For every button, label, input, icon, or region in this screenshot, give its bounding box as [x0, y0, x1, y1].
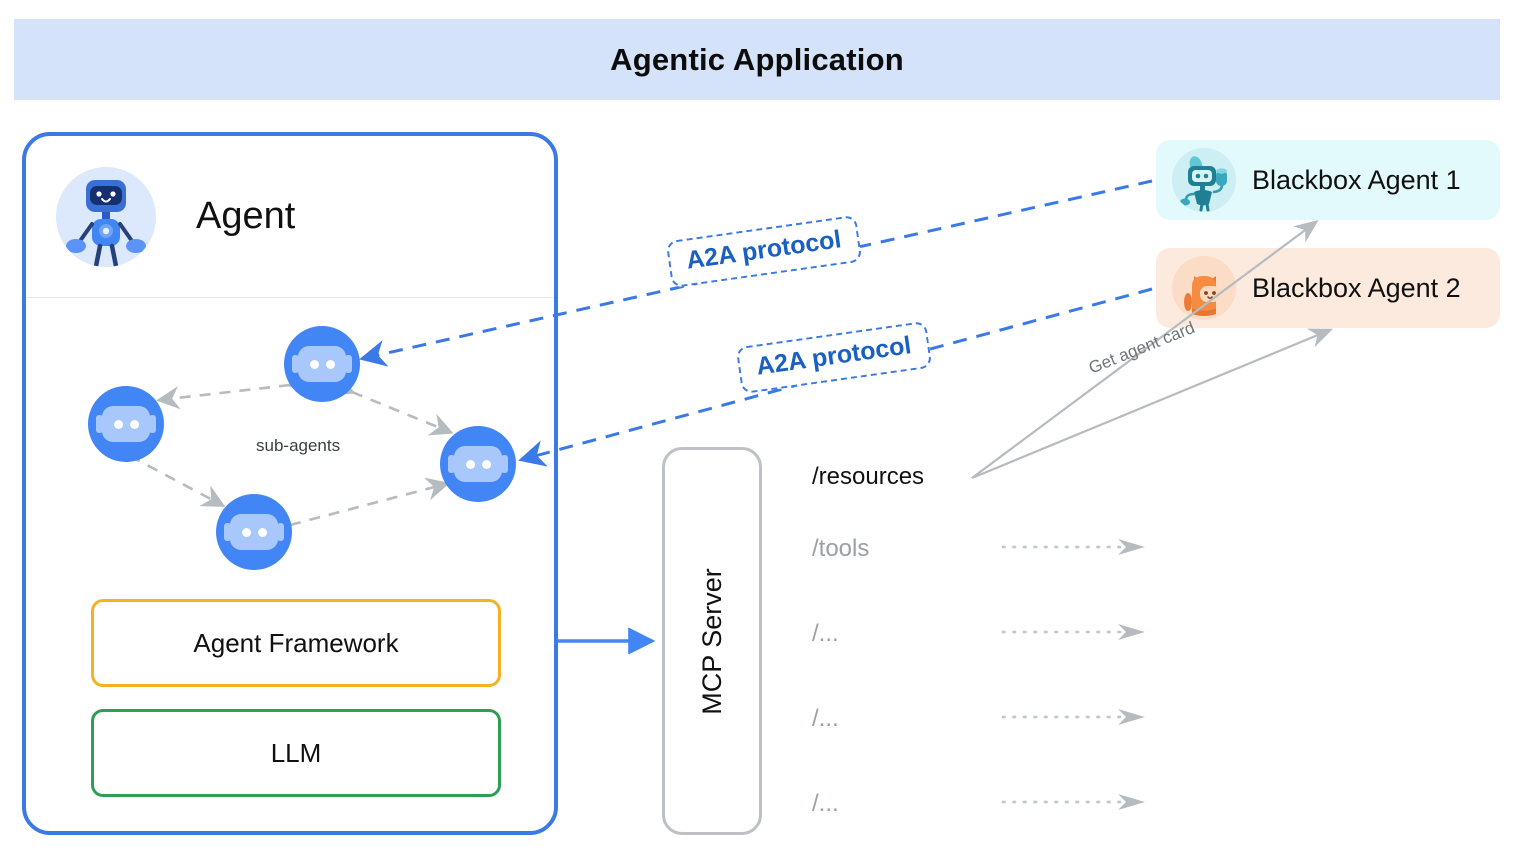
mcp-server-label: MCP Server	[697, 568, 728, 715]
endpoint-arrowhead-2	[1118, 709, 1145, 725]
agent-header: Agent	[26, 136, 554, 298]
mcp-server-box[interactable]: MCP Server	[662, 447, 762, 835]
robot-face-icon	[298, 346, 346, 382]
robot-eye-left	[466, 460, 475, 469]
endpoint-more-3-label: /...	[812, 790, 839, 817]
llm-label: LLM	[271, 738, 322, 769]
endpoint-more-1-label: /...	[812, 620, 839, 647]
endpoint-arrowhead-1	[1118, 624, 1145, 640]
a2a-protocol-tag-2: A2A protocol	[736, 321, 933, 394]
page-title: Agentic Application	[610, 42, 904, 78]
robot-eye-right	[326, 360, 335, 369]
robot-eye-right	[258, 528, 267, 537]
sub-agent-top[interactable]	[284, 326, 360, 402]
endpoint-resources[interactable]: /resources	[812, 463, 924, 491]
agent-container[interactable]: Agent sub-agents	[22, 132, 558, 835]
blackbox-agent-1-card[interactable]: Blackbox Agent 1	[1156, 140, 1500, 220]
orange-cat-icon	[1172, 256, 1236, 320]
robot-face-icon	[454, 446, 502, 482]
endpoint-tools-label: /tools	[812, 535, 869, 562]
endpoint-arrowhead-3	[1118, 794, 1145, 810]
robot-face-icon	[102, 406, 150, 442]
endpoint-tools[interactable]: /tools	[812, 535, 869, 563]
diagram-canvas: Agentic Application	[0, 0, 1524, 864]
get-agent-card-label: Get agent card	[1086, 318, 1198, 379]
endpoint-more-2[interactable]: /...	[812, 705, 839, 733]
endpoint-more-2-label: /...	[812, 705, 839, 732]
agent-framework-box[interactable]: Agent Framework	[91, 599, 501, 687]
blackbox-agent-2-card[interactable]: Blackbox Agent 2	[1156, 248, 1500, 328]
robot-eye-right	[130, 420, 139, 429]
sub-agent-bottom[interactable]	[216, 494, 292, 570]
blackbox-agent-1-label: Blackbox Agent 1	[1252, 165, 1461, 196]
sub-agent-right[interactable]	[440, 426, 516, 502]
sub-agent-left[interactable]	[88, 386, 164, 462]
header-bar: Agentic Application	[14, 19, 1500, 100]
blackbox-agent-2-label: Blackbox Agent 2	[1252, 273, 1461, 304]
endpoint-more-3[interactable]: /...	[812, 790, 839, 818]
robot-eye-left	[310, 360, 319, 369]
robot-eye-left	[114, 420, 123, 429]
robot-avatar-icon	[56, 167, 156, 267]
teal-robot-icon	[1172, 148, 1236, 212]
a2a-protocol-tag-1: A2A protocol	[666, 215, 863, 288]
endpoint-more-1[interactable]: /...	[812, 620, 839, 648]
endpoint-resources-label: /resources	[812, 463, 924, 490]
llm-box[interactable]: LLM	[91, 709, 501, 797]
robot-eye-right	[482, 460, 491, 469]
robot-face-icon	[230, 514, 278, 550]
endpoint-arrowhead-tools	[1118, 539, 1145, 555]
robot-eye-left	[242, 528, 251, 537]
sub-agents-label: sub-agents	[256, 436, 340, 456]
agent-title: Agent	[196, 195, 295, 238]
agent-framework-label: Agent Framework	[193, 628, 398, 659]
